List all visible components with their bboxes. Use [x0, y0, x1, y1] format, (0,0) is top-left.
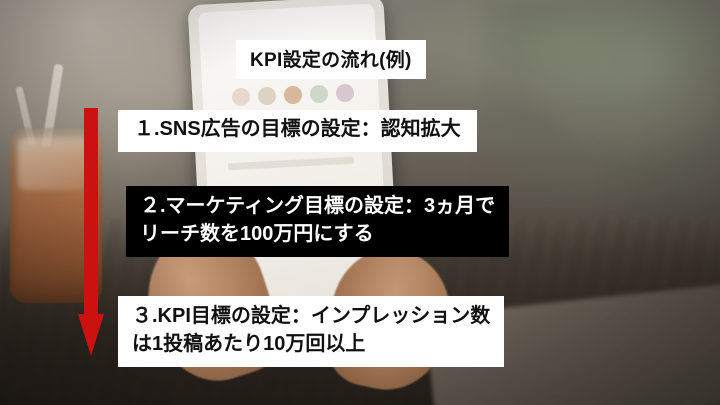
slide-title: KPI設定の流れ(例): [236, 40, 426, 79]
step-item-2: ２.マーケティング目標の設定：3ヵ月で リーチ数を100万円にする: [126, 186, 509, 257]
step-item-1: １.SNS広告の目標の設定：認知拡大: [118, 110, 477, 152]
slide-content: KPI設定の流れ(例) １.SNS広告の目標の設定：認知拡大 ２.マーケティング…: [0, 0, 720, 405]
downward-red-arrow-icon: [78, 108, 104, 356]
step-item-3: ３.KPI目標の設定：インプレッション数 は1投稿あたり10万回以上: [118, 296, 504, 367]
slide-root: KPI設定の流れ(例) １.SNS広告の目標の設定：認知拡大 ２.マーケティング…: [0, 0, 720, 405]
